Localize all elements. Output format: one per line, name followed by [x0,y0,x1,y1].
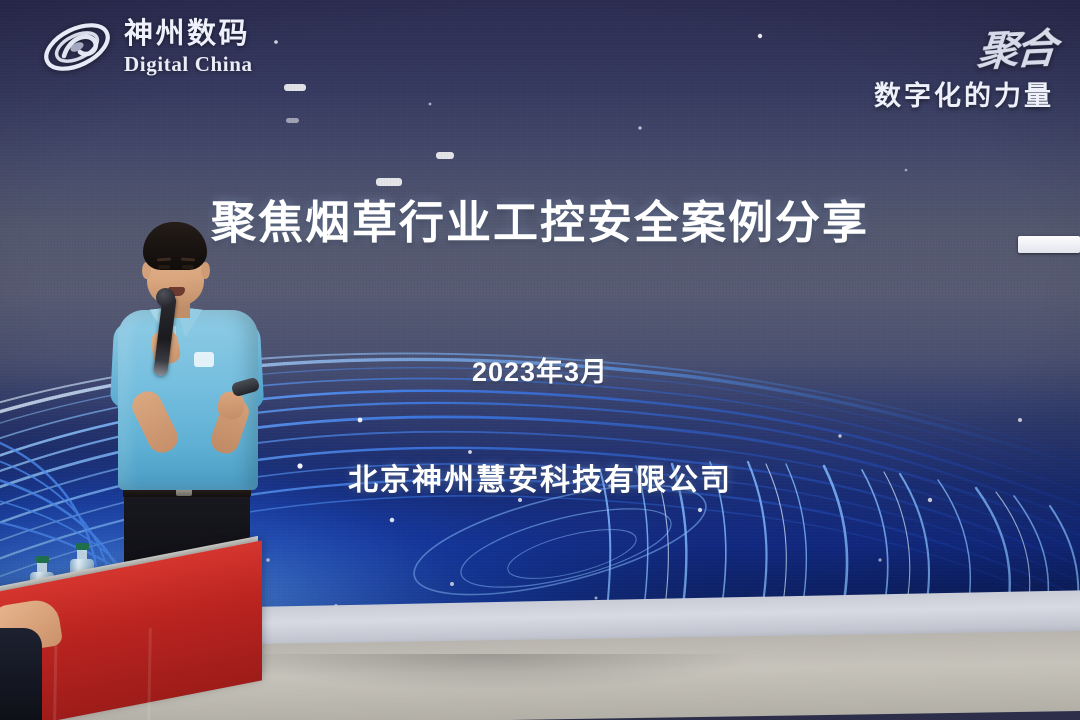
brand-logo-left: 神州数码 Digital China [40,14,253,80]
audience-member-body [0,628,42,720]
bottle-neck [77,550,87,559]
presenter-eye-left [158,265,170,269]
stage-floor-shadow [240,654,740,720]
brand-en-name: Digital China [124,54,253,75]
brand-cn-name: 神州数码 [124,20,253,49]
presenter-chest-logo-icon [194,352,214,367]
event-tagline: 数字化的力量 [874,74,1054,113]
event-calligraphy-title: 聚合 [975,14,1056,77]
bottle-cap [36,556,49,563]
conference-stage-photo: 神州数码 Digital China 聚合 数字化的力量 聚焦烟草行业工控安全案… [0,0,1080,720]
brand-logo-right: 聚合 数字化的力量 [874,16,1054,113]
bottle-cap [76,543,89,550]
presenter-ear-right [201,262,210,279]
presenter-eye-right [182,265,194,269]
bottle-neck [37,563,47,572]
presenter-hair [143,222,207,270]
digital-china-swirl-icon [40,14,114,80]
